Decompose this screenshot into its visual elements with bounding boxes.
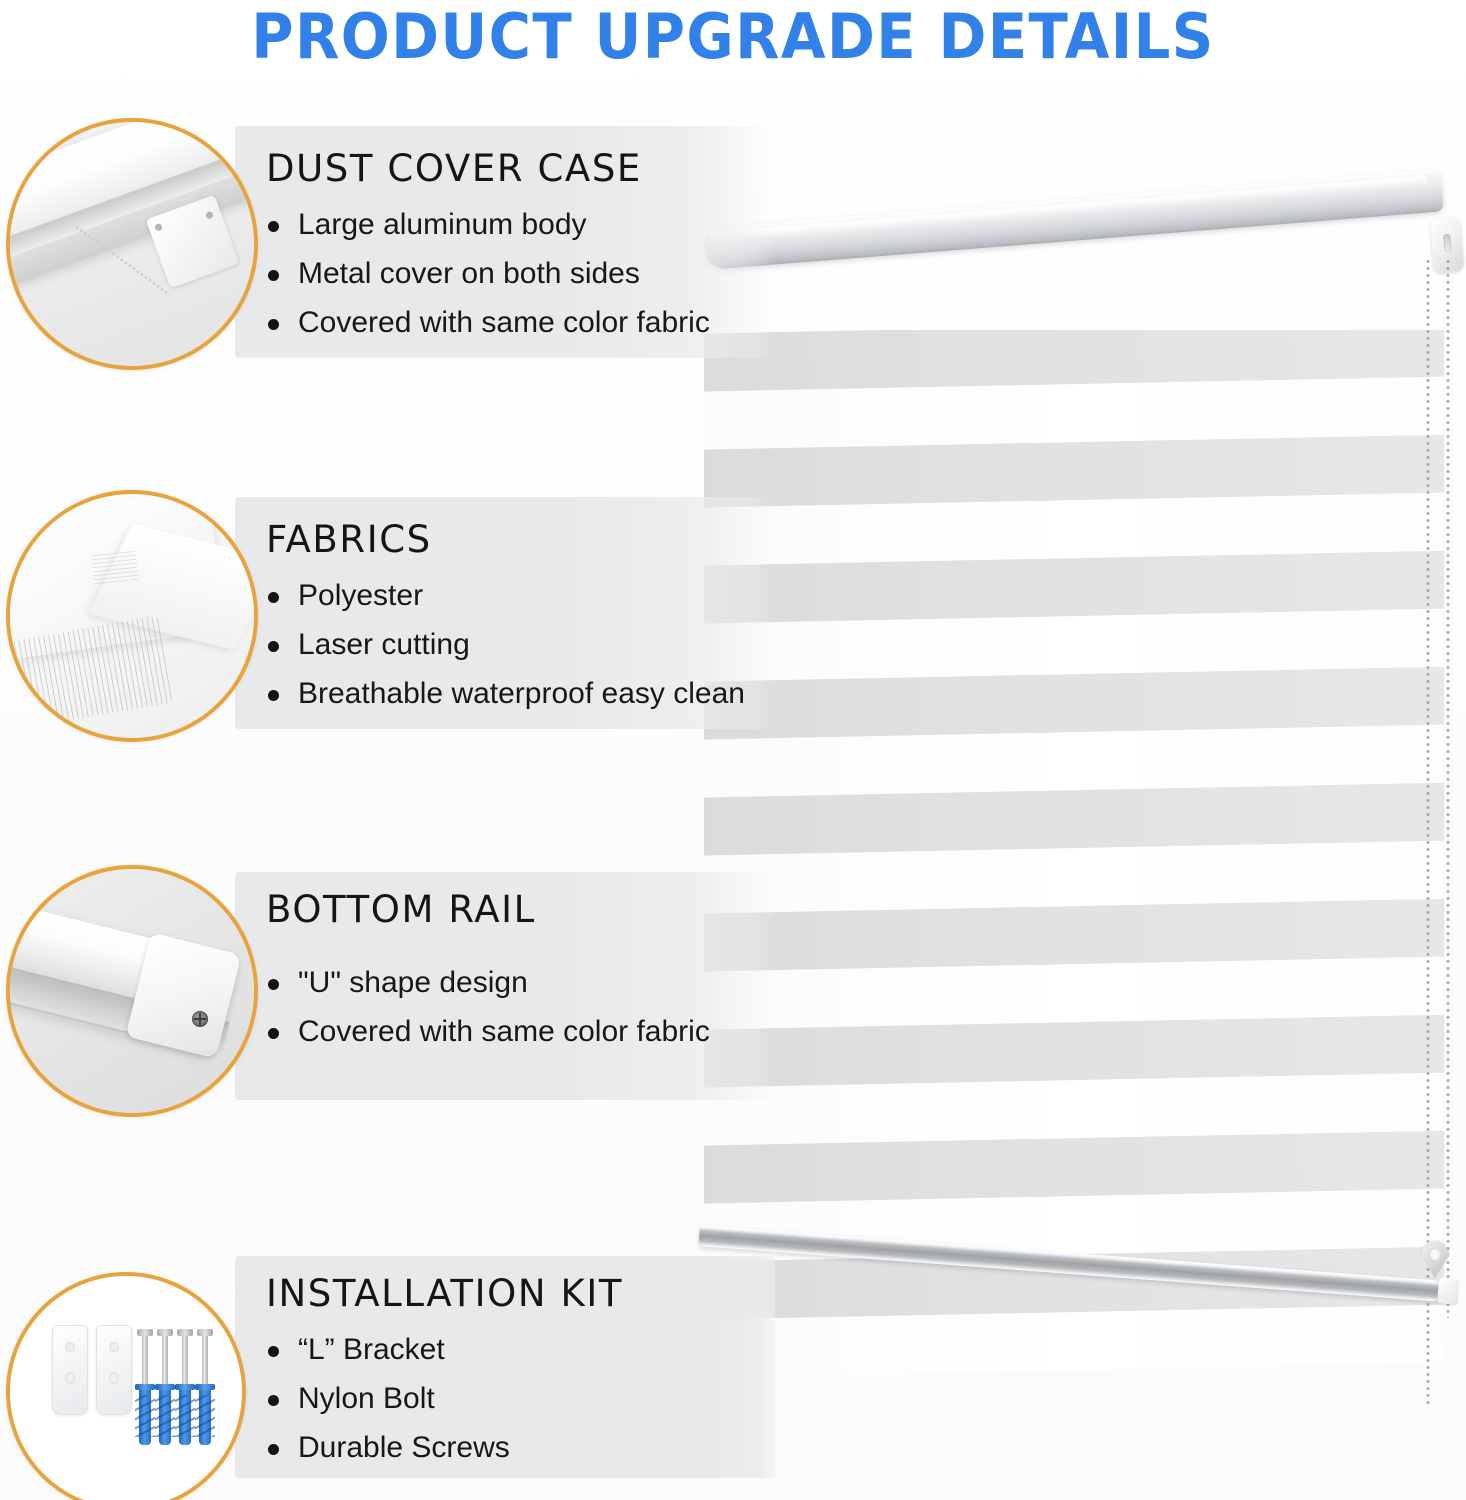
bullet-item: Covered with same color fabric	[266, 298, 710, 347]
zebra-roller-blind-illustration	[690, 200, 1466, 1340]
bead-chain-right-strand	[1446, 258, 1450, 1318]
fabrics-bullets: Polyester Laser cutting Breathable water…	[266, 571, 745, 718]
fabrics-photo	[6, 490, 258, 742]
bullet-item: Laser cutting	[266, 620, 745, 669]
bullet-item: Breathable waterproof easy clean	[266, 669, 745, 718]
dust-cover-case-bullets: Large aluminum body Metal cover on both …	[266, 200, 710, 347]
page-title: PRODUCT UPGRADE DETAILS	[51, 2, 1414, 72]
bottom-rail-photo	[6, 865, 258, 1117]
fabrics-heading: FABRICS	[266, 519, 432, 561]
bracket-icon	[52, 1325, 88, 1415]
installation-kit-bullets: “L” Bracket Nylon Bolt Durable Screws	[266, 1325, 510, 1472]
bottom-rail-heading: BOTTOM RAIL	[266, 889, 536, 931]
bullet-item: Metal cover on both sides	[266, 249, 710, 298]
dust-cover-case-photo	[6, 118, 258, 370]
bullet-item: Nylon Bolt	[266, 1374, 510, 1423]
installation-kit-photo	[6, 1272, 246, 1500]
product-infographic: PRODUCT UPGRADE DETAILS	[0, 0, 1466, 1500]
bullet-item: Large aluminum body	[266, 200, 710, 249]
installation-kit-heading: INSTALLATION KIT	[266, 1273, 623, 1315]
bead-chain-left-strand	[1426, 258, 1430, 1408]
dust-cover-case-heading: DUST COVER CASE	[266, 148, 642, 190]
bottom-rail-bullets: "U" shape design Covered with same color…	[266, 958, 710, 1056]
bottom-rail-end-cap	[1437, 1277, 1459, 1304]
bullet-item: Covered with same color fabric	[266, 1007, 710, 1056]
bullet-item: "U" shape design	[266, 958, 710, 1007]
bracket-icon	[96, 1325, 132, 1415]
bullet-item: Polyester	[266, 571, 745, 620]
bullet-item: “L” Bracket	[266, 1325, 510, 1374]
bullet-item: Durable Screws	[266, 1423, 510, 1472]
